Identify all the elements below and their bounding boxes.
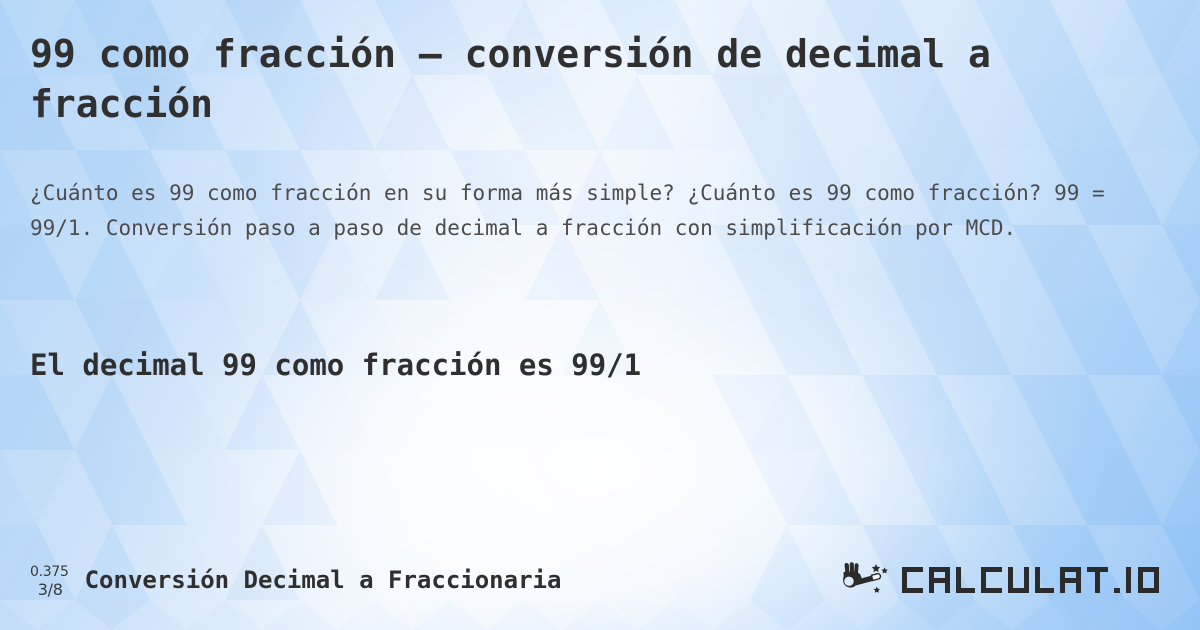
brand-wordmark: CALCULAT.IO [902, 563, 1170, 597]
card-footer: 0.375 3/8 Conversión Decimal a Fracciona… [0, 556, 1200, 604]
page-description: ¿Cuánto es 99 como fracción en su forma … [30, 176, 1170, 246]
fraction-logo-decimal: 0.375 [30, 565, 69, 579]
brand-logo[interactable]: CALCULAT.IO [840, 561, 1170, 599]
page-title: 99 como fracción – conversión de decimal… [30, 29, 1030, 129]
footer-left-group: 0.375 3/8 Conversión Decimal a Fracciona… [30, 563, 561, 598]
magic-wand-hand-icon [840, 561, 896, 599]
fraction-logo-fraction: 3/8 [38, 582, 63, 598]
site-section-title: Conversión Decimal a Fraccionaria [85, 566, 562, 594]
card-content: 99 como fracción – conversión de decimal… [0, 0, 1200, 630]
answer-statement: El decimal 99 como fracción es 99/1 [30, 345, 641, 385]
fraction-logo-icon: 0.375 3/8 [30, 563, 69, 598]
social-card: 99 como fracción – conversión de decimal… [0, 0, 1200, 630]
